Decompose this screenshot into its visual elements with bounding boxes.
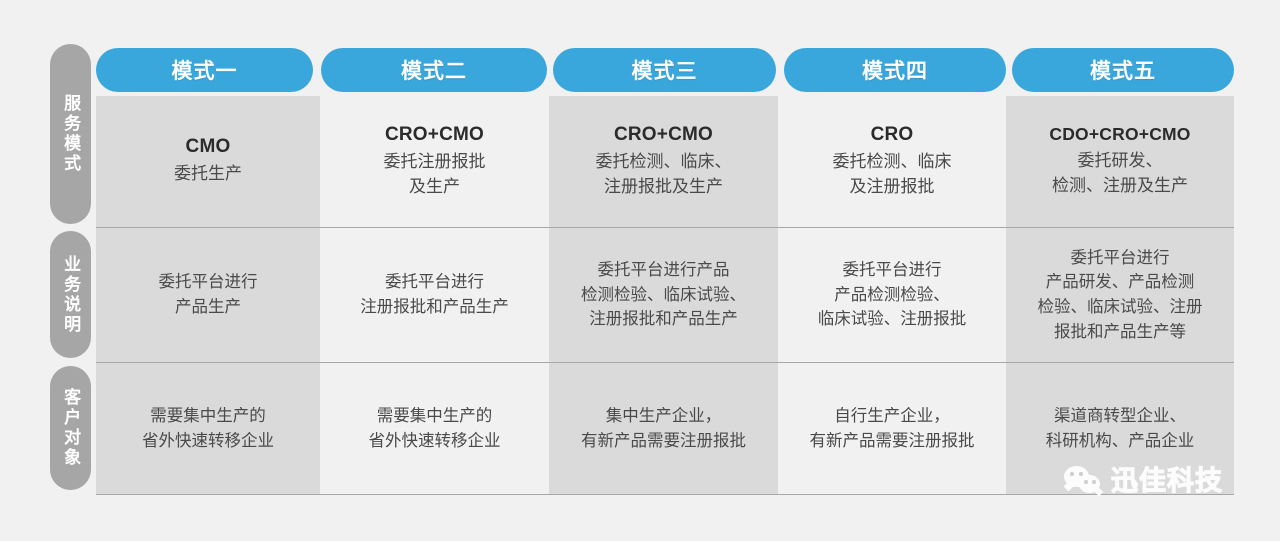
text-line: 检测、注册及生产 (1052, 174, 1188, 199)
text-line: 委托研发、 (1052, 149, 1188, 174)
cell-service-mode-3: CRO+CMO 委托检测、临床、注册报批及生产 (549, 96, 778, 227)
service-lines-2: 委托注册报批及生产 (384, 150, 486, 199)
text-line: 委托平台进行 (159, 270, 258, 295)
column-header-3[interactable]: 模式三 (553, 48, 776, 92)
text-line: 需要集中生产的 (369, 404, 501, 429)
description-lines-5: 委托平台进行产品研发、产品检测检验、临床试验、注册报批和产品生产等 (1038, 246, 1203, 345)
text-line: 自行生产企业， (810, 404, 975, 429)
text-line: 报批和产品生产等 (1038, 320, 1203, 345)
text-line: 渠道商转型企业、 (1046, 404, 1195, 429)
description-lines-4: 委托平台进行产品检测检验、临床试验、注册报批 (818, 258, 967, 332)
text-line: 省外快速转移企业 (369, 429, 501, 454)
customer-lines-2: 需要集中生产的省外快速转移企业 (369, 404, 501, 454)
customer-lines-3: 集中生产企业，有新产品需要注册报批 (581, 404, 746, 454)
text-line: 有新产品需要注册报批 (581, 429, 746, 454)
text-line: 临床试验、注册报批 (818, 307, 967, 332)
cell-customer-1: 需要集中生产的省外快速转移企业 (96, 363, 320, 494)
column-header-4[interactable]: 模式四 (784, 48, 1006, 92)
text-line: 科研机构、产品企业 (1046, 429, 1195, 454)
row-label-service-mode: 服务模式 (50, 44, 91, 224)
column-header-5-label: 模式五 (1090, 55, 1156, 85)
column-header-2[interactable]: 模式二 (321, 48, 547, 92)
cell-service-mode-2: CRO+CMO 委托注册报批及生产 (320, 96, 549, 227)
text-line: 及生产 (384, 175, 486, 200)
customer-lines-1: 需要集中生产的省外快速转移企业 (142, 404, 274, 454)
service-lines-4: 委托检测、临床及注册报批 (833, 150, 952, 199)
text-line: 需要集中生产的 (142, 404, 274, 429)
text-line: 注册报批和产品生产 (360, 295, 509, 320)
row-label-business-description: 业务说明 (50, 231, 91, 358)
row-label-business-description-text: 业务说明 (62, 255, 79, 335)
cell-service-mode-5: CDO+CRO+CMO 委托研发、检测、注册及生产 (1006, 96, 1234, 227)
cell-service-mode-4: CRO 委托检测、临床及注册报批 (778, 96, 1006, 227)
text-line: 委托平台进行产品 (581, 258, 746, 283)
cell-description-5: 委托平台进行产品研发、产品检测检验、临床试验、注册报批和产品生产等 (1006, 228, 1234, 362)
description-lines-3: 委托平台进行产品检测检验、临床试验、注册报批和产品生产 (581, 258, 746, 332)
service-lines-5: 委托研发、检测、注册及生产 (1052, 149, 1188, 198)
row-label-customer-target: 客户对象 (50, 366, 91, 490)
text-line: 委托平台进行 (360, 270, 509, 295)
cell-customer-3: 集中生产企业，有新产品需要注册报批 (549, 363, 778, 494)
cell-customer-2: 需要集中生产的省外快速转移企业 (320, 363, 549, 494)
text-line: 省外快速转移企业 (142, 429, 274, 454)
customer-lines-5: 渠道商转型企业、科研机构、产品企业 (1046, 404, 1195, 454)
column-header-2-label: 模式二 (401, 55, 467, 85)
service-lines-1: 委托生产 (174, 162, 242, 187)
service-code-3: CRO+CMO (614, 124, 713, 146)
text-line: 委托平台进行 (1038, 246, 1203, 271)
cell-customer-5: 渠道商转型企业、科研机构、产品企业 (1006, 363, 1234, 494)
text-line: 及注册报批 (833, 175, 952, 200)
text-line: 产品检测检验、 (818, 283, 967, 308)
text-line: 委托平台进行 (818, 258, 967, 283)
description-lines-1: 委托平台进行产品生产 (159, 270, 258, 320)
column-header-1[interactable]: 模式一 (96, 48, 313, 92)
service-model-comparison-table: 服务模式 业务说明 客户对象 模式一 模式二 模式三 模式四 模式五 CMO 委… (0, 0, 1280, 541)
text-line: 有新产品需要注册报批 (810, 429, 975, 454)
service-code-4: CRO (871, 124, 914, 146)
text-line: 注册报批和产品生产 (581, 307, 746, 332)
table-bottom-border (96, 494, 1234, 495)
column-header-5[interactable]: 模式五 (1012, 48, 1234, 92)
row-label-customer-target-text: 客户对象 (62, 388, 79, 468)
text-line: 委托检测、临床 (833, 150, 952, 175)
service-code-5: CDO+CRO+CMO (1049, 124, 1190, 145)
text-line: 集中生产企业， (581, 404, 746, 429)
service-code-1: CMO (186, 136, 231, 158)
text-line: 产品研发、产品检测 (1038, 270, 1203, 295)
column-header-3-label: 模式三 (632, 55, 698, 85)
service-lines-3: 委托检测、临床、注册报批及生产 (596, 150, 732, 199)
customer-lines-4: 自行生产企业，有新产品需要注册报批 (810, 404, 975, 454)
text-line: 检验、临床试验、注册 (1038, 295, 1203, 320)
description-lines-2: 委托平台进行注册报批和产品生产 (360, 270, 509, 320)
text-line: 产品生产 (159, 295, 258, 320)
row-label-service-mode-text: 服务模式 (62, 94, 79, 174)
text-line: 委托检测、临床、 (596, 150, 732, 175)
cell-description-4: 委托平台进行产品检测检验、临床试验、注册报批 (778, 228, 1006, 362)
text-line: 检测检验、临床试验、 (581, 283, 746, 308)
cell-description-1: 委托平台进行产品生产 (96, 228, 320, 362)
cell-customer-4: 自行生产企业，有新产品需要注册报批 (778, 363, 1006, 494)
text-line: 委托注册报批 (384, 150, 486, 175)
service-code-2: CRO+CMO (385, 124, 484, 146)
column-header-4-label: 模式四 (862, 55, 928, 85)
text-line: 注册报批及生产 (596, 175, 732, 200)
cell-service-mode-1: CMO 委托生产 (96, 96, 320, 227)
text-line: 委托生产 (174, 162, 242, 187)
cell-description-3: 委托平台进行产品检测检验、临床试验、注册报批和产品生产 (549, 228, 778, 362)
cell-description-2: 委托平台进行注册报批和产品生产 (320, 228, 549, 362)
column-header-1-label: 模式一 (172, 55, 238, 85)
